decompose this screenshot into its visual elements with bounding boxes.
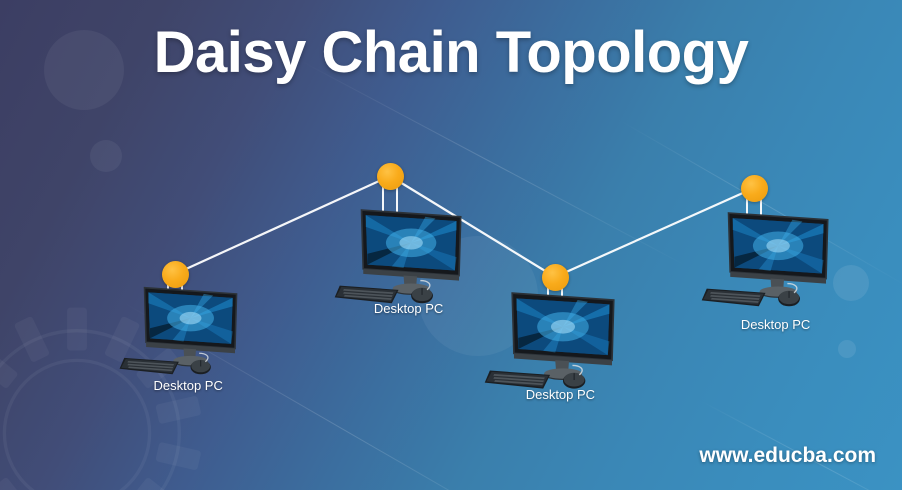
pc-node-1[interactable]: Desktop PC: [118, 283, 258, 383]
network-node-2[interactable]: [377, 163, 404, 190]
pc-node-3[interactable]: Desktop PC: [483, 288, 638, 398]
desktop-pc-icon: [118, 283, 258, 383]
slide-canvas: Daisy Chain Topology: [0, 0, 902, 490]
desktop-pc-icon: [700, 208, 851, 316]
desktop-pc-icon: [483, 288, 638, 398]
pc-label-3: Desktop PC: [526, 387, 595, 402]
pc-node-2[interactable]: Desktop PC: [333, 205, 484, 313]
pc-node-4[interactable]: Desktop PC: [700, 208, 851, 316]
page-title: Daisy Chain Topology: [0, 19, 902, 86]
network-node-4[interactable]: [741, 175, 768, 202]
pc-label-1: Desktop PC: [154, 378, 223, 393]
site-url: www.educba.com: [699, 444, 876, 468]
pc-label-4: Desktop PC: [741, 317, 810, 332]
desktop-pc-icon: [333, 205, 484, 313]
network-node-3[interactable]: [542, 264, 569, 291]
network-node-1[interactable]: [162, 261, 189, 288]
pc-label-2: Desktop PC: [374, 301, 443, 316]
